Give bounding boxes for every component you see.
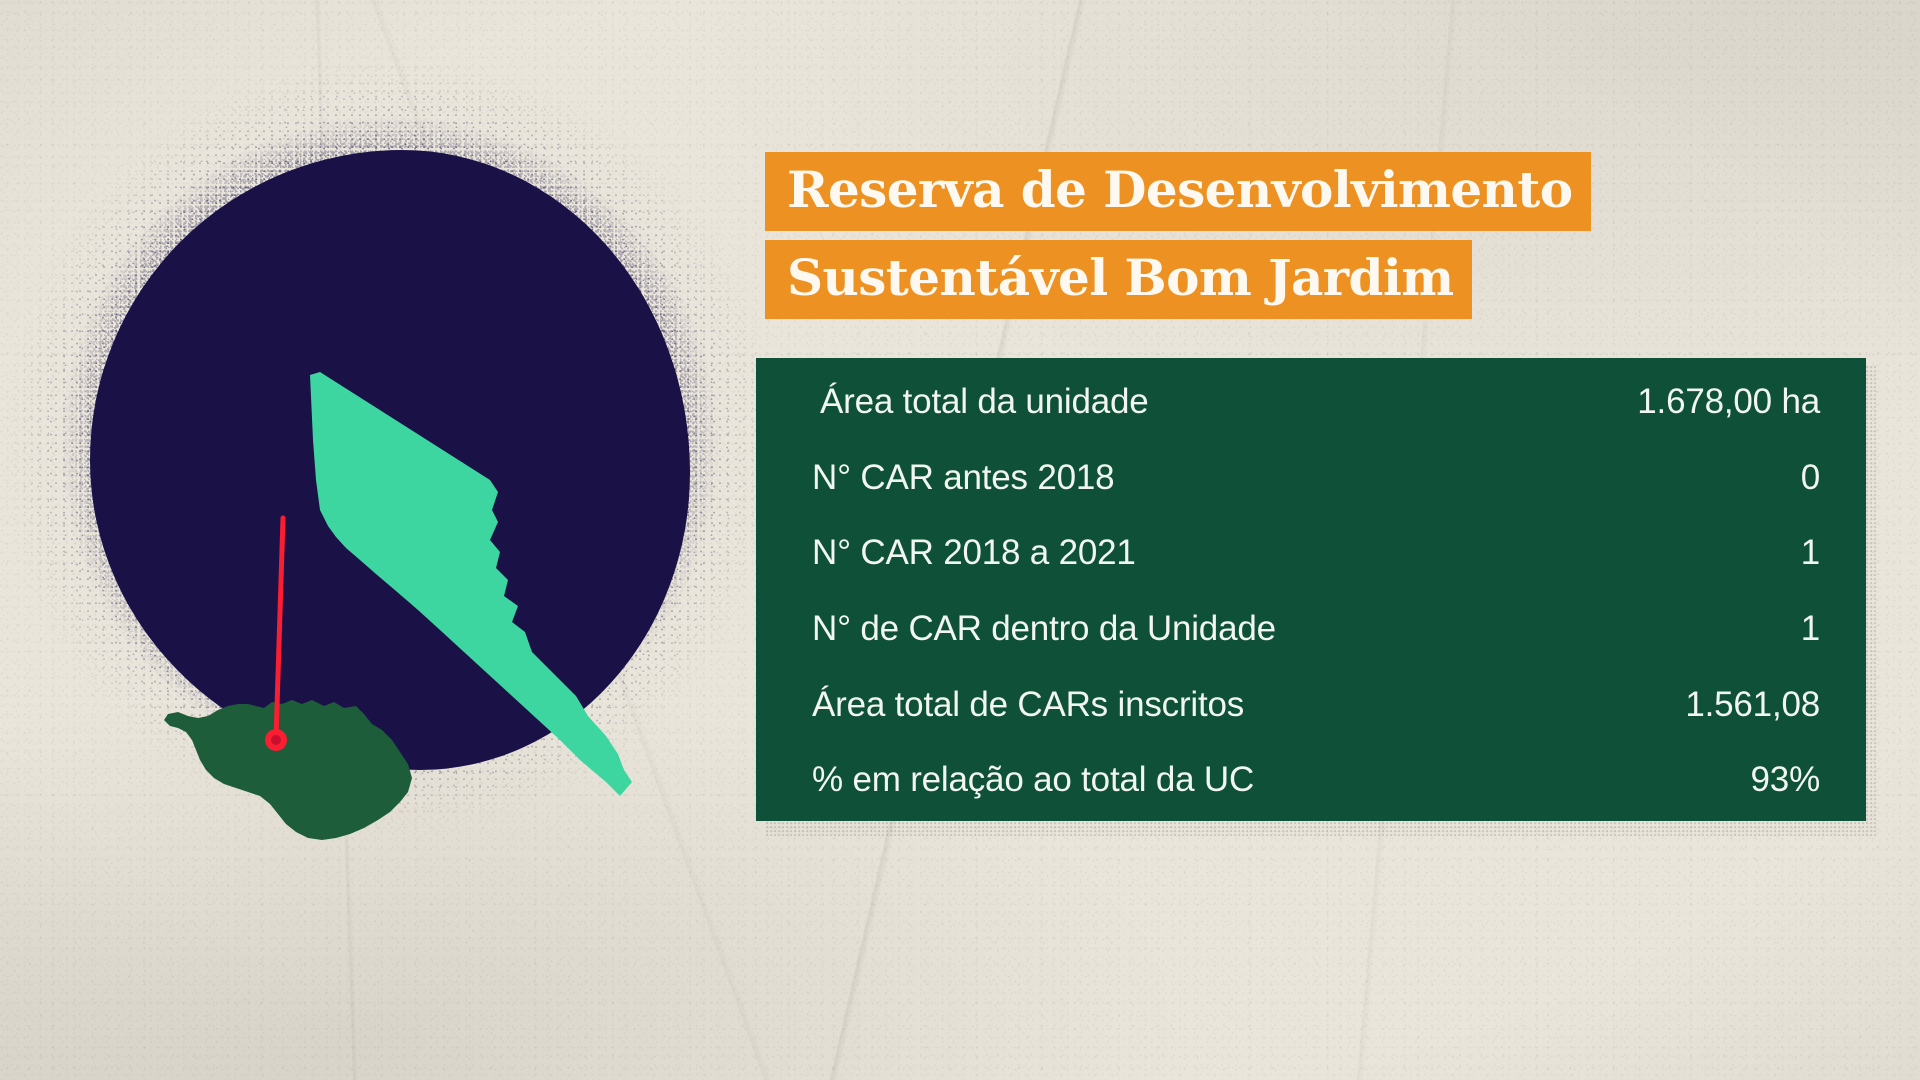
- row-label: Área total da unidade: [812, 384, 1149, 421]
- page-title-line-2: Sustentável Bom Jardim: [765, 240, 1472, 319]
- page-title-line-1: Reserva de Desenvolvimento: [765, 152, 1591, 231]
- row-value: 1.678,00 ha: [1637, 384, 1820, 421]
- row-label: N° CAR antes 2018: [812, 460, 1114, 497]
- table-row: N° de CAR dentro da Unidade 1: [812, 611, 1820, 648]
- state-silhouette: [164, 700, 412, 840]
- infographic-canvas: Reserva de Desenvolvimento Sustentável B…: [0, 0, 1920, 1080]
- table-row: Área total de CARs inscritos 1.561,08: [812, 687, 1820, 724]
- data-panel: Área total da unidade 1.678,00 ha N° CAR…: [756, 358, 1866, 821]
- map-shapes-svg: [20, 40, 760, 850]
- row-value: 1: [1801, 535, 1820, 572]
- page-title: Reserva de Desenvolvimento Sustentável B…: [765, 152, 1665, 319]
- location-marker-dot-core: [271, 735, 281, 745]
- table-row: N° CAR 2018 a 2021 1: [812, 535, 1820, 572]
- row-value: 0: [1801, 460, 1820, 497]
- map-graphic: [20, 40, 760, 850]
- row-value: 1: [1801, 611, 1820, 648]
- table-row: % em relação ao total da UC 93%: [812, 762, 1820, 799]
- row-label: N° CAR 2018 a 2021: [812, 535, 1136, 572]
- row-label: N° de CAR dentro da Unidade: [812, 611, 1276, 648]
- row-label: Área total de CARs inscritos: [812, 687, 1244, 724]
- table-row: Área total da unidade 1.678,00 ha: [812, 384, 1820, 421]
- table-row: N° CAR antes 2018 0: [812, 460, 1820, 497]
- row-value: 1.561,08: [1685, 687, 1820, 724]
- row-value: 93%: [1751, 762, 1820, 799]
- row-label: % em relação ao total da UC: [812, 762, 1254, 799]
